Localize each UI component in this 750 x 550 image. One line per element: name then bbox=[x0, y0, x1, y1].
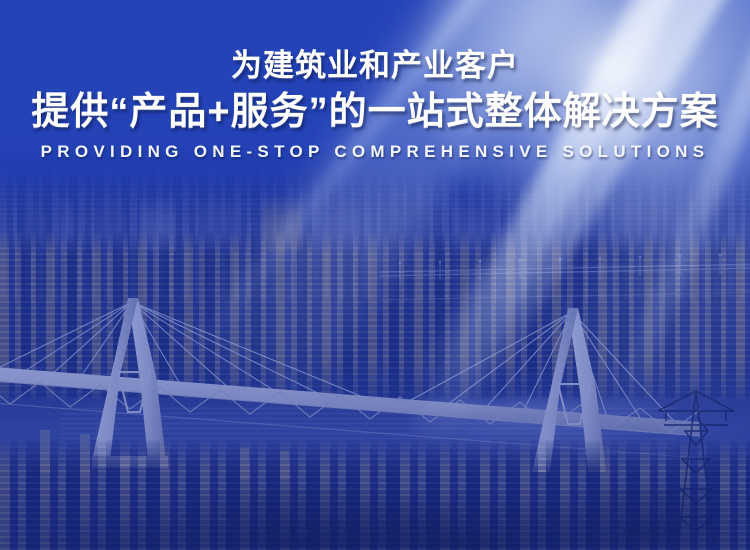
banner-subtitle: PROVIDING ONE-STOP COMPREHENSIVE SOLUTIO… bbox=[0, 142, 750, 162]
banner-copy: 为建筑业和产业客户 提供“产品+服务”的一站式整体解决方案 PROVIDING … bbox=[0, 46, 750, 162]
headline-line-2: 提供“产品+服务”的一站式整体解决方案 bbox=[0, 88, 750, 136]
headline-line-1: 为建筑业和产业客户 bbox=[0, 46, 750, 86]
hero-banner: 为建筑业和产业客户 提供“产品+服务”的一站式整体解决方案 PROVIDING … bbox=[0, 0, 750, 550]
